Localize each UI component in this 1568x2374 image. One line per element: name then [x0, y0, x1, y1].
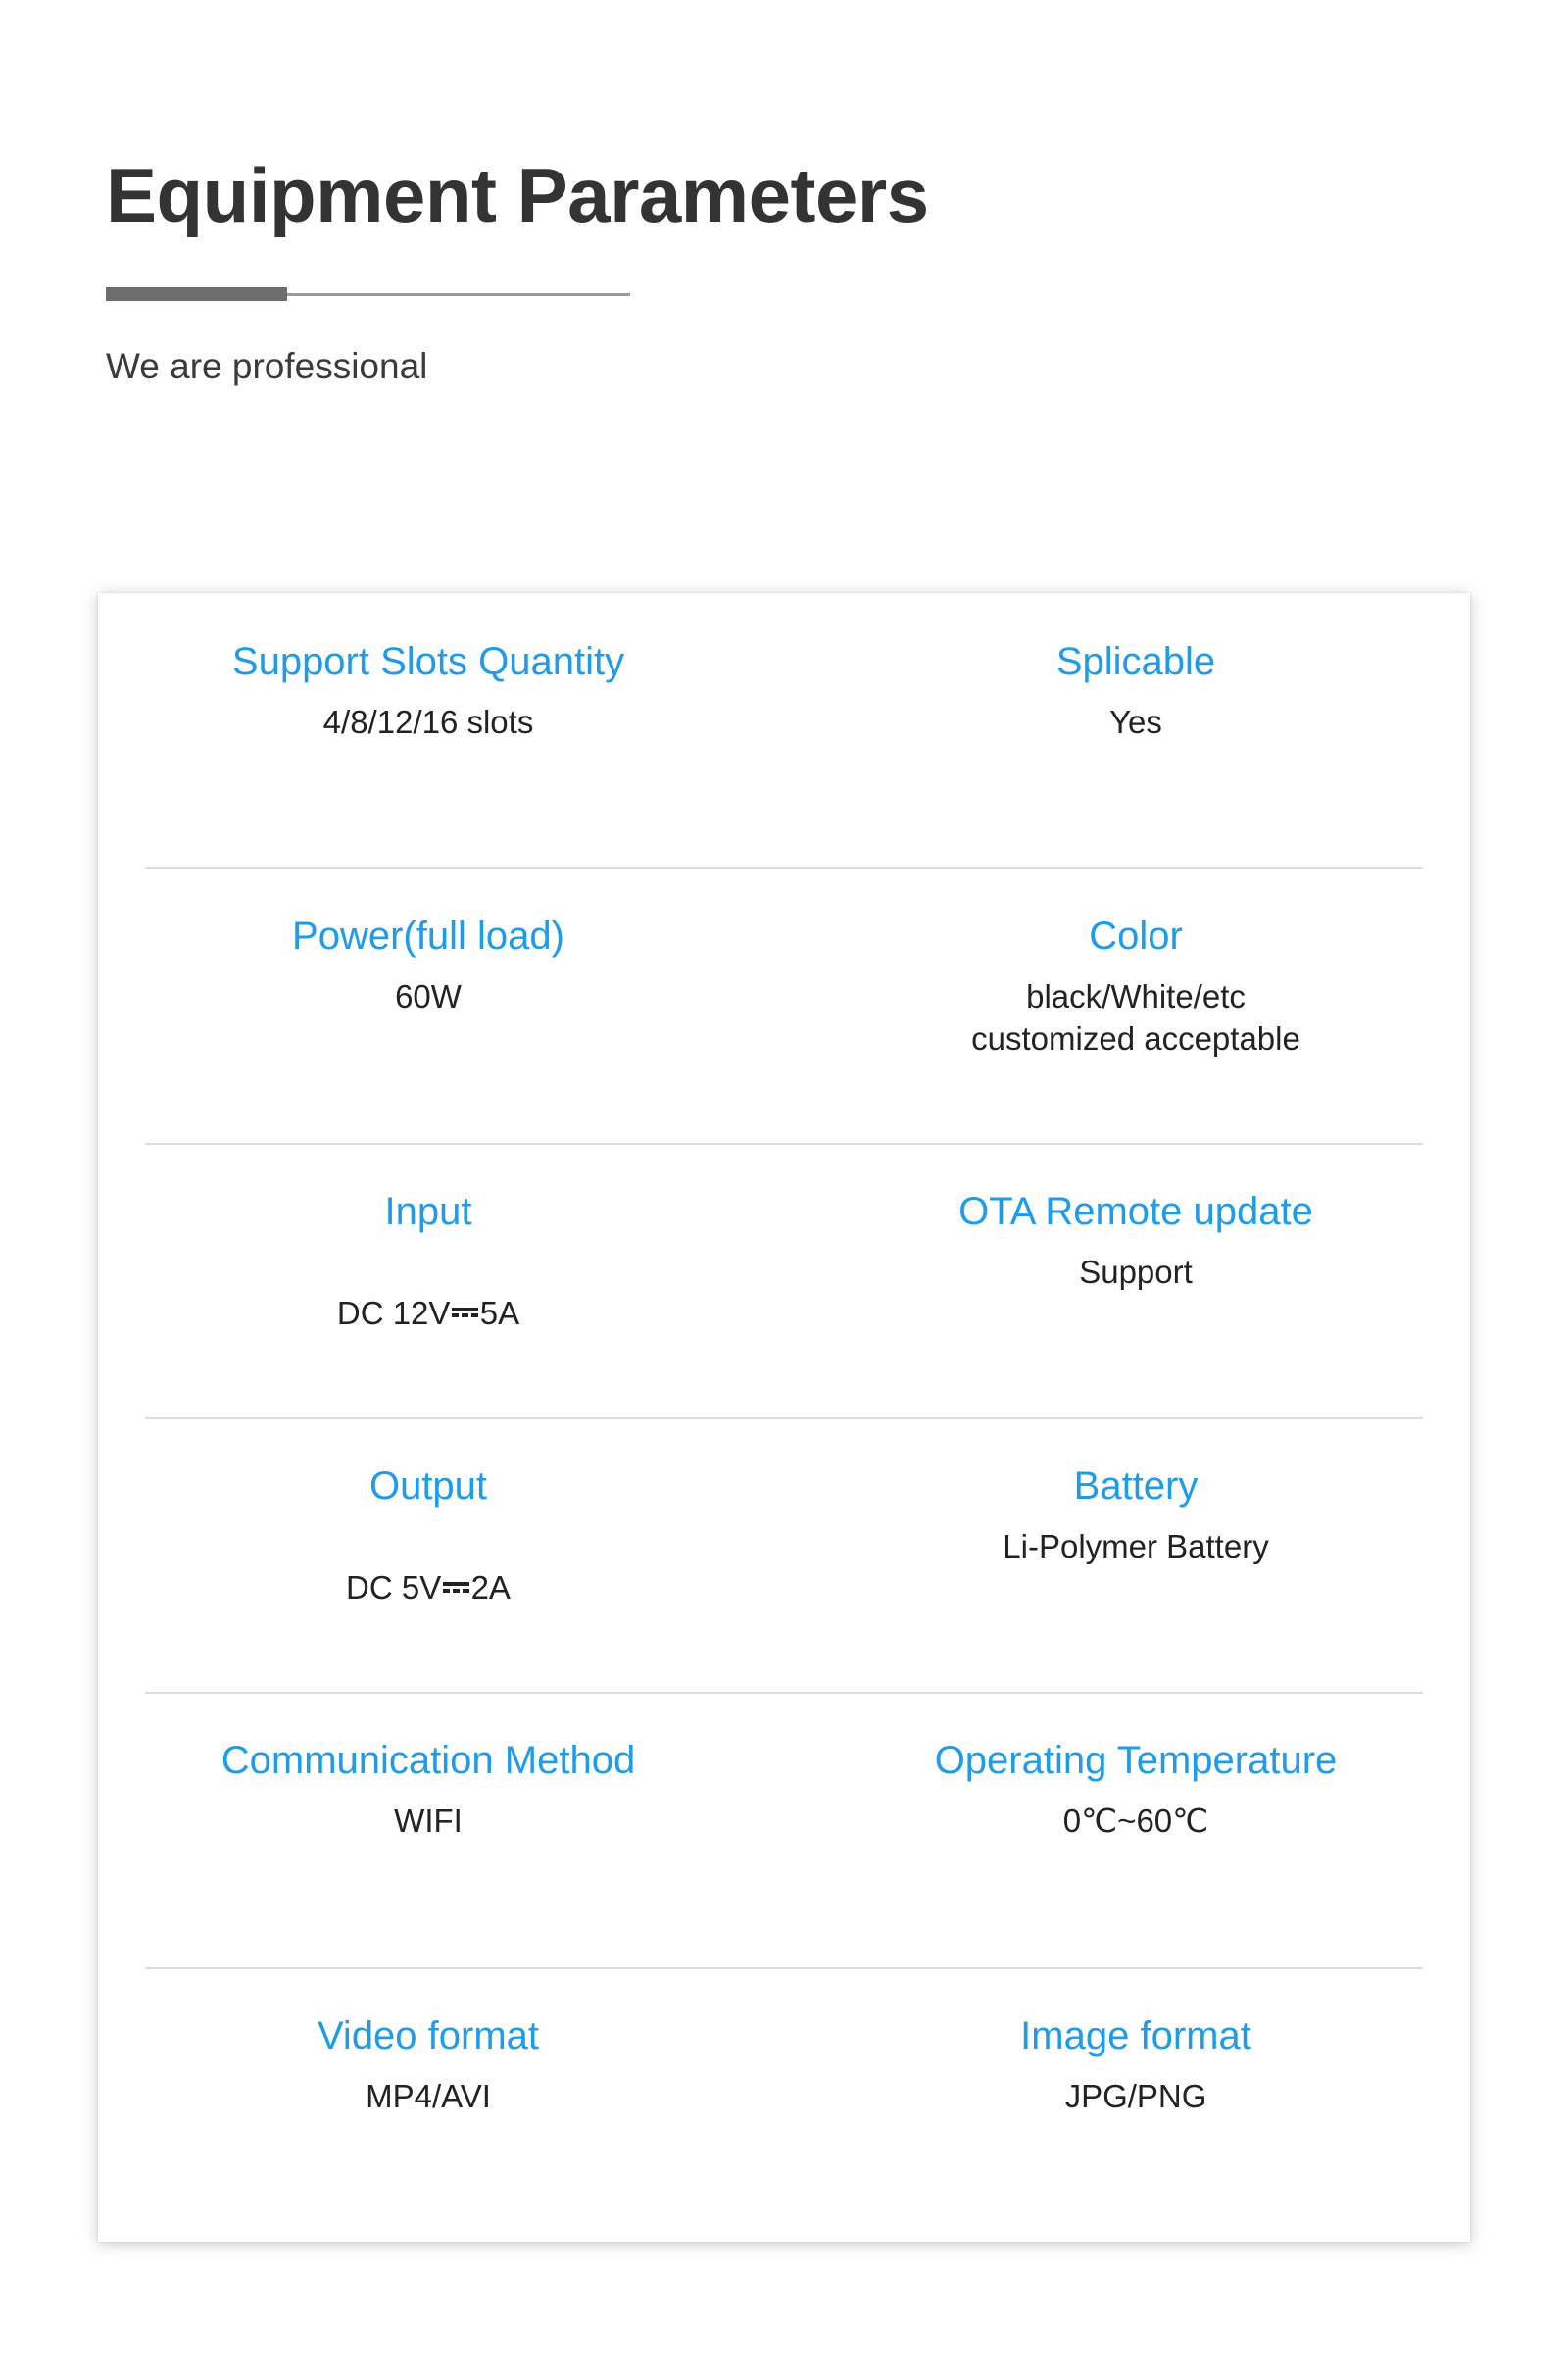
- spec-value: DC 5V2A: [346, 1526, 511, 1608]
- spec-cell: Battery Li-Polymer Battery: [784, 1417, 1470, 1692]
- spec-cell: Video format MP4/AVI: [98, 1967, 784, 2242]
- equipment-parameters-page: Equipment Parameters We are professional…: [0, 0, 1568, 2374]
- divider-thin-segment: [287, 293, 630, 296]
- spec-cell: Communication Method WIFI: [98, 1692, 784, 1966]
- spec-label: Splicable: [1056, 637, 1215, 686]
- title-divider: [106, 287, 821, 301]
- spec-value: 0℃~60℃: [1063, 1801, 1208, 1842]
- spec-label: Image format: [1020, 2011, 1251, 2060]
- table-row: Power(full load) 60W Color black/White/e…: [98, 867, 1470, 1142]
- dc-current-icon: [443, 1569, 468, 1602]
- spec-value: MP4/AVI: [366, 2076, 491, 2117]
- page-subtitle: We are professional: [106, 345, 1478, 388]
- page-header: Equipment Parameters We are professional: [106, 157, 1478, 388]
- table-row: Input DC 12V5A OTA Remote update Support: [98, 1143, 1470, 1417]
- spec-table: Support Slots Quantity 4/8/12/16 slots S…: [98, 593, 1470, 2242]
- table-row: Communication Method WIFI Operating Temp…: [98, 1692, 1470, 1966]
- spec-value-suffix: 5A: [480, 1295, 519, 1331]
- spec-value: Li-Polymer Battery: [1003, 1526, 1268, 1567]
- table-row: Output DC 5V2A Battery Li-Polymer Batter…: [98, 1417, 1470, 1692]
- spec-label: Output: [369, 1461, 487, 1510]
- spec-label: Power(full load): [292, 912, 564, 961]
- page-title: Equipment Parameters: [106, 157, 1478, 233]
- spec-cell: Color black/White/etc customized accepta…: [784, 867, 1470, 1142]
- spec-card: Support Slots Quantity 4/8/12/16 slots S…: [98, 593, 1470, 2242]
- spec-cell: OTA Remote update Support: [784, 1143, 1470, 1417]
- spec-value: 60W: [395, 976, 462, 1017]
- spec-label: Color: [1089, 912, 1183, 961]
- spec-cell: Support Slots Quantity 4/8/12/16 slots: [98, 593, 784, 867]
- spec-value: Yes: [1109, 702, 1162, 743]
- spec-label: Battery: [1074, 1461, 1199, 1510]
- spec-value: Support: [1079, 1252, 1193, 1293]
- divider-thick-segment: [106, 287, 287, 301]
- spec-cell: Splicable Yes: [784, 593, 1470, 867]
- spec-label: OTA Remote update: [958, 1187, 1313, 1236]
- spec-value: 4/8/12/16 slots: [323, 702, 534, 743]
- spec-value-suffix: 2A: [471, 1569, 511, 1606]
- spec-label: Communication Method: [221, 1736, 635, 1785]
- spec-label: Input: [385, 1187, 472, 1236]
- table-row: Support Slots Quantity 4/8/12/16 slots S…: [98, 593, 1470, 867]
- spec-cell: Output DC 5V2A: [98, 1417, 784, 1692]
- spec-label: Video format: [318, 2011, 539, 2060]
- spec-value: DC 12V5A: [337, 1252, 519, 1334]
- spec-value-prefix: DC 12V: [337, 1295, 451, 1331]
- spec-cell: Input DC 12V5A: [98, 1143, 784, 1417]
- spec-value-prefix: DC 5V: [346, 1569, 441, 1606]
- spec-cell: Power(full load) 60W: [98, 867, 784, 1142]
- spec-label: Operating Temperature: [935, 1736, 1338, 1785]
- spec-label: Support Slots Quantity: [232, 637, 624, 686]
- spec-cell: Operating Temperature 0℃~60℃: [784, 1692, 1470, 1966]
- table-row: Video format MP4/AVI Image format JPG/PN…: [98, 1967, 1470, 2242]
- spec-cell: Image format JPG/PNG: [784, 1967, 1470, 2242]
- spec-value: black/White/etc customized acceptable: [971, 976, 1300, 1059]
- spec-value: WIFI: [394, 1801, 463, 1842]
- spec-value: JPG/PNG: [1065, 2076, 1207, 2117]
- dc-current-icon: [452, 1295, 477, 1327]
